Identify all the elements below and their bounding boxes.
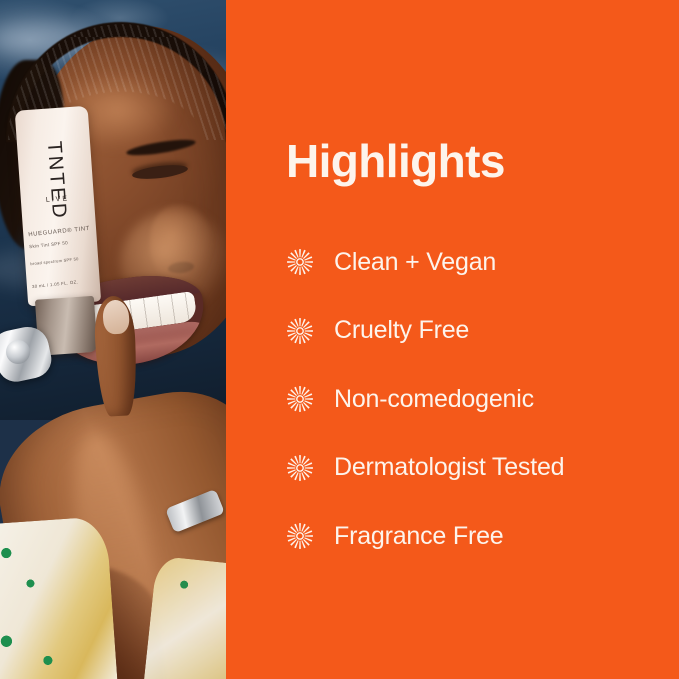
list-item-label: Clean + Vegan [334, 250, 496, 275]
ring-stone [6, 340, 30, 364]
product-highlights-card: TNTED LIVE HUEGUARD® TINT Skin Tint SPF … [0, 0, 679, 679]
sunburst-icon [286, 454, 314, 482]
sunburst-icon [286, 317, 314, 345]
list-item-label: Dermatologist Tested [334, 455, 564, 480]
lifestyle-photo: TNTED LIVE HUEGUARD® TINT Skin Tint SPF … [0, 0, 226, 679]
sunburst-icon [286, 522, 314, 550]
tube-brand-mark: TNTED [16, 124, 96, 239]
sunburst-icon [286, 385, 314, 413]
list-item: Cruelty Free [286, 297, 666, 366]
list-item: Dermatologist Tested [286, 434, 666, 503]
list-item: Non-comedogenic [286, 365, 666, 434]
patterned-shirt [0, 516, 118, 679]
highlights-panel: Highlights [226, 0, 679, 679]
list-item: Clean + Vegan [286, 228, 666, 297]
list-item-label: Fragrance Free [334, 524, 504, 549]
list-item: Fragrance Free [286, 502, 666, 571]
list-item-label: Cruelty Free [334, 318, 469, 343]
highlights-list: Clean + Vegan [286, 228, 666, 571]
sunburst-icon [286, 248, 314, 276]
page-title: Highlights [286, 138, 505, 184]
list-item-label: Non-comedogenic [334, 387, 534, 412]
